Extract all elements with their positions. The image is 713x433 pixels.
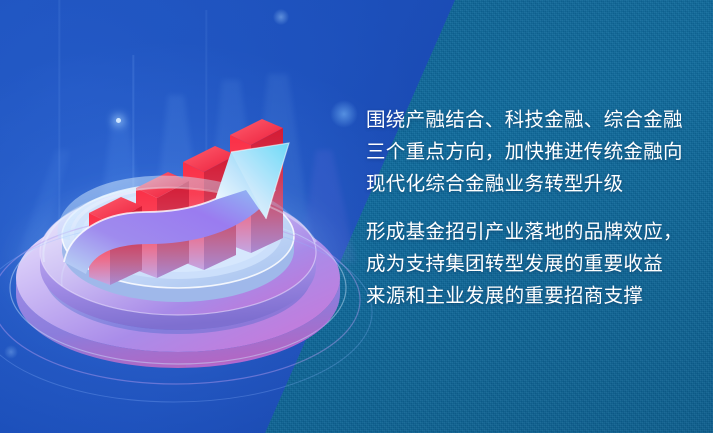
growth-chart-illustration — [0, 0, 380, 433]
slide-canvas: 围绕产融结合、科技金融、综合金融 三个重点方向，加快推进传统金融向 现代化综合金… — [0, 0, 713, 433]
headline-paragraph-1: 围绕产融结合、科技金融、综合金融 三个重点方向，加快推进传统金融向 现代化综合金… — [366, 104, 686, 200]
headline-paragraph-2: 形成基金招引产业落地的品牌效应， 成为支持集团转型发展的重要收益 来源和主业发展… — [366, 216, 686, 312]
